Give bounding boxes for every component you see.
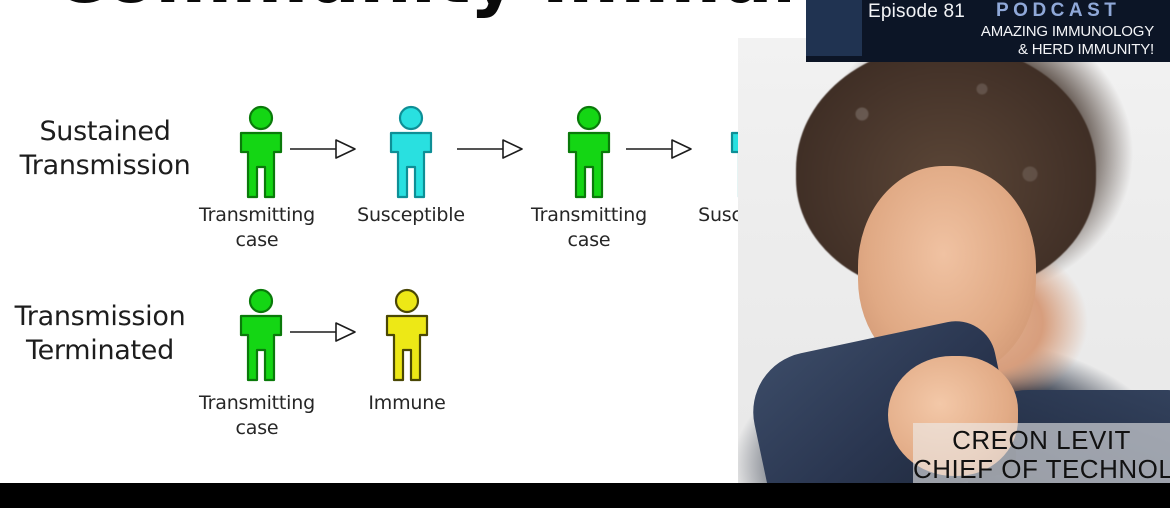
arrow-transmission-3 (624, 135, 694, 161)
arrow-transmission-1 (288, 135, 358, 161)
label-line1: Transmitting (172, 391, 342, 416)
figure-susceptible-1 (382, 105, 440, 201)
label-line2: case (504, 228, 674, 253)
label-line1: Transmitting (172, 203, 342, 228)
banner-subtitle-line2: & HERD IMMUNITY! (854, 41, 1154, 58)
presenter-role: CHIEF OF TECHNOLOGY (913, 454, 1170, 485)
label-line1: Transmitting (504, 203, 674, 228)
figure-transmitting-case-3 (232, 288, 290, 384)
row-label-sustained-transmission: Sustained Transmission (5, 115, 205, 183)
row-label-transmission-terminated: Transmission Terminated (0, 300, 200, 368)
node-label-transmitting-case-1: Transmitting case (172, 203, 342, 253)
podcast-label: PODCAST (996, 0, 1120, 22)
presenter-photo (738, 38, 1170, 483)
figure-transmitting-case-2 (560, 105, 618, 201)
episode-label: Episode 81 (868, 1, 965, 23)
arrow-transmission-2 (455, 135, 525, 161)
figure-transmitting-case-1 (232, 105, 290, 201)
node-label-susceptible-1: Susceptible (326, 203, 496, 228)
slide-title-cropped: Community Immunity (0, 0, 790, 22)
video-frame: Community Immunity Sustained Transmissio… (0, 0, 1170, 508)
row2-label-line1: Transmission (0, 300, 200, 334)
label-line1: Susceptible (326, 203, 496, 228)
podcast-banner: Episode 81 PODCAST AMAZING IMMUNOLOGY & … (806, 0, 1170, 62)
letterbox-bottom-bar (0, 483, 1170, 508)
node-label-immune: Immune (322, 391, 492, 416)
presenter-name: CREON LEVIT (913, 425, 1170, 456)
row2-label-line2: Terminated (0, 334, 200, 368)
figure-immune (378, 288, 436, 384)
arrow-transmission-terminated (288, 318, 358, 344)
presentation-slide: Community Immunity Sustained Transmissio… (0, 0, 1170, 483)
row1-label-line2: Transmission (5, 149, 205, 183)
node-label-transmitting-case-3: Transmitting case (172, 391, 342, 441)
label-line1: Immune (322, 391, 492, 416)
lower-third-nameplate: CREON LEVIT CHIEF OF TECHNOLOGY (913, 423, 1170, 483)
label-line2: case (172, 416, 342, 441)
slide-title: Community Immunity (52, 0, 790, 22)
label-line2: case (172, 228, 342, 253)
row1-label-line1: Sustained (5, 115, 205, 149)
banner-subtitle-line1: AMAZING IMMUNOLOGY (854, 23, 1154, 40)
node-label-transmitting-case-2: Transmitting case (504, 203, 674, 253)
